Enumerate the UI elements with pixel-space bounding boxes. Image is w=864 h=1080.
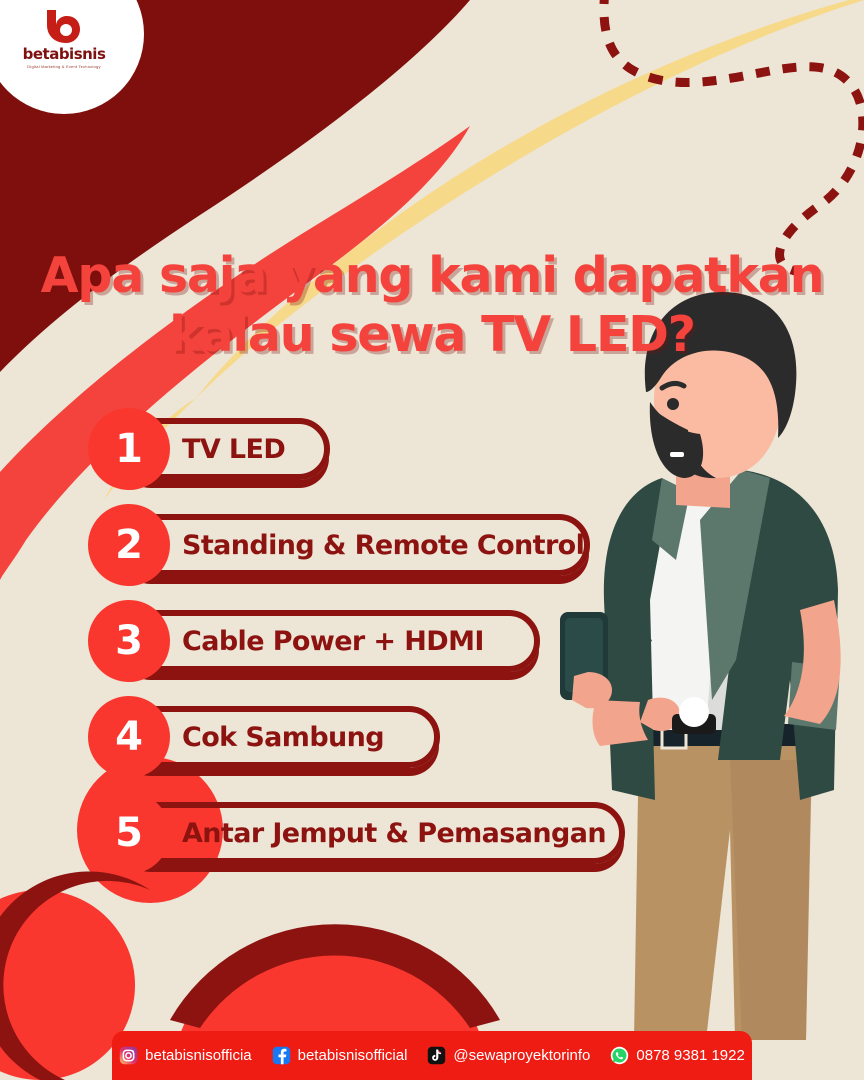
contact-whatsapp[interactable]: 0878 9381 1922 [610, 1046, 744, 1065]
contact-facebook[interactable]: betabisnisofficial [272, 1046, 408, 1065]
benefit-label: Cable Power + HDMI [182, 626, 484, 657]
whatsapp-number: 0878 9381 1922 [636, 1047, 744, 1064]
instagram-icon[interactable] [119, 1046, 138, 1065]
benefit-label: Standing & Remote Control [182, 530, 584, 561]
list-item: Cok Sambung 4 [0, 692, 864, 788]
benefit-pill: Antar Jemput & Pemasangan [120, 802, 625, 864]
benefit-pill: Standing & Remote Control [120, 514, 590, 576]
benefit-number-badge: 3 [88, 600, 170, 682]
list-item: Antar Jemput & Pemasangan 5 [0, 788, 864, 884]
list-item: Cable Power + HDMI 3 [0, 596, 864, 692]
whatsapp-icon[interactable] [610, 1046, 629, 1065]
facebook-handle: betabisnisofficial [298, 1047, 408, 1064]
brand-tagline: Digital Marketing & Event Technology [12, 64, 116, 69]
benefit-label: TV LED [182, 434, 285, 465]
benefit-number-badge: 4 [88, 696, 170, 778]
instagram-handle: betabisnisofficia [145, 1047, 251, 1064]
brand-logo: betabisnis Digital Marketing & Event Tec… [12, 8, 116, 70]
facebook-icon[interactable] [272, 1046, 291, 1065]
benefit-pill: Cable Power + HDMI [120, 610, 540, 672]
brand-name: betabisnis [12, 45, 116, 63]
betabisnis-b-logo-icon [41, 8, 87, 44]
contact-instagram[interactable]: betabisnisofficia [119, 1046, 251, 1065]
benefit-number-badge: 2 [88, 504, 170, 586]
poster-canvas: betabisnis Digital Marketing & Event Tec… [0, 0, 864, 1080]
benefit-number-badge: 1 [88, 408, 170, 490]
benefit-label: Cok Sambung [182, 722, 384, 753]
benefit-label: Antar Jemput & Pemasangan [182, 818, 606, 849]
tiktok-icon[interactable] [427, 1046, 446, 1065]
list-item: Standing & Remote Control 2 [0, 500, 864, 596]
benefit-number-badge: 5 [88, 792, 170, 874]
contact-bar: betabisnisofficia betabisnisofficial @se… [112, 1031, 752, 1080]
tiktok-handle: @sewaproyektorinfo [453, 1047, 590, 1064]
list-item: TV LED 1 [0, 404, 864, 500]
benefits-list: TV LED 1 Standing & Remote Control 2 Cab… [0, 404, 864, 884]
contact-tiktok[interactable]: @sewaproyektorinfo [427, 1046, 590, 1065]
